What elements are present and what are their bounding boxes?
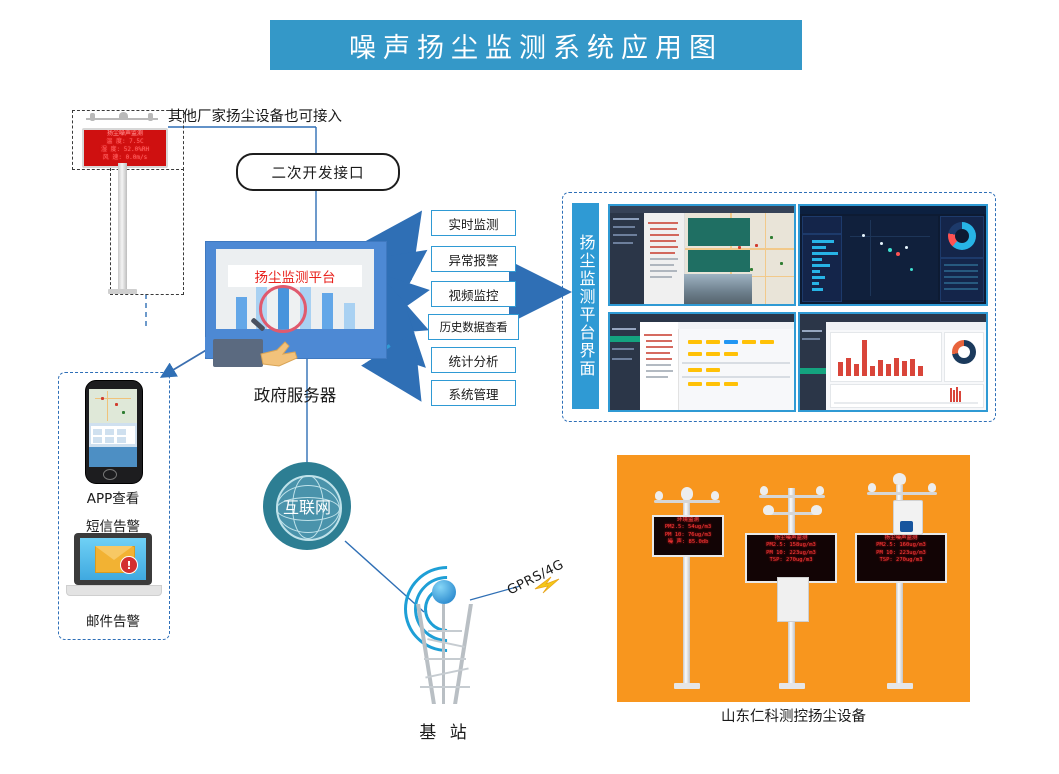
api-interface-label: 二次开发接口 xyxy=(272,162,365,183)
anemometer-icon xyxy=(655,491,663,500)
station-3-led-display: 扬尘噪声监测 PM2.5: 160ug/m3 PM 10: 223ug/m3 T… xyxy=(855,533,947,583)
function-label: 异常报警 xyxy=(448,250,498,269)
equipment-caption: 山东仁科测控扬尘设备 xyxy=(617,705,970,726)
anemometer-icon xyxy=(90,113,95,121)
function-item-realtime[interactable]: 实时监测 xyxy=(431,210,516,236)
led-line-3: TSP: 270ug/m3 xyxy=(857,557,945,565)
led-line-3: 风 速: 0.0m/s xyxy=(84,154,166,162)
third-party-mast-foot xyxy=(108,289,137,294)
function-label: 视频监控 xyxy=(448,285,498,304)
rain-gauge-icon xyxy=(893,473,906,485)
led-line-1: PM2.5: 158ug/m3 xyxy=(747,542,835,550)
function-item-statistics[interactable]: 统计分析 xyxy=(431,347,516,373)
wind-vane-icon xyxy=(928,483,936,492)
third-party-note: 其他厂家扬尘设备也可接入 xyxy=(168,105,342,126)
phone-map-view xyxy=(89,389,137,423)
noise-sensor-icon xyxy=(811,505,822,515)
screenshot-map-monitoring[interactable] xyxy=(608,204,796,306)
platform-title-text: 扬尘监测平台 xyxy=(255,266,336,286)
function-label: 系统管理 xyxy=(448,384,498,403)
led-line-1: PM2.5: 54ug/m3 xyxy=(654,524,722,532)
app-view-label: APP查看 xyxy=(58,487,168,507)
laptop-base xyxy=(66,585,162,596)
page-title: 噪声扬尘监测系统应用图 xyxy=(349,26,723,65)
tower-brace-2 xyxy=(424,658,466,660)
third-party-led-display: 扬尘噪声监测 温 度: 7.5C 湿 度: 52.0%RH 风 速: 0.0m/… xyxy=(82,128,168,168)
led-line-3: TSP: 270ug/m3 xyxy=(747,557,835,565)
screenshot-device-list[interactable] xyxy=(608,312,796,412)
camera-icon xyxy=(763,505,774,515)
station-2-crossarm xyxy=(759,495,825,498)
led-line-1: PM2.5: 160ug/m3 xyxy=(857,542,945,550)
tower-diagonal-2 xyxy=(425,667,468,678)
led-header: 扬尘噪声监测 xyxy=(857,535,945,542)
led-header: 扬尘噪声监测 xyxy=(84,130,166,138)
station-1-led-display: 环境监测 PM2.5: 54ug/m3 PM 10: 76ug/m3 噪 声: … xyxy=(652,515,724,557)
station-1-foot xyxy=(674,683,700,689)
dashboard-label-text: 扬尘监测平台界面 xyxy=(574,234,598,378)
rain-sensor-icon xyxy=(119,112,128,120)
page-title-banner: 噪声扬尘监测系统应用图 xyxy=(270,20,802,70)
wind-vane-icon xyxy=(816,486,824,495)
tower-leg-center xyxy=(442,604,445,704)
function-item-video[interactable]: 视频监控 xyxy=(431,281,516,307)
anemometer-icon xyxy=(868,483,876,492)
led-line-2: 湿 度: 52.0%RH xyxy=(84,146,166,154)
third-party-mast xyxy=(118,163,127,291)
function-label: 统计分析 xyxy=(448,351,498,370)
internet-label: 互联网 xyxy=(263,494,351,518)
led-line-2: PM 10: 76ug/m3 xyxy=(654,532,722,540)
station-2-led-display: 扬尘噪声监测 PM2.5: 158ug/m3 PM 10: 223ug/m3 T… xyxy=(745,533,837,583)
sensor-badge-icon xyxy=(900,521,913,532)
dashboard-vertical-label: 扬尘监测平台界面 xyxy=(572,203,599,409)
station-2-foot xyxy=(779,683,805,689)
magnifier-icon xyxy=(259,285,307,333)
screenshot-gis-overview[interactable] xyxy=(798,204,988,306)
wind-vane-icon xyxy=(148,113,153,121)
tower-brace-1 xyxy=(428,630,462,632)
alert-badge-icon: ! xyxy=(120,556,138,574)
phone-home-button xyxy=(103,469,117,480)
led-line-1: 温 度: 7.5C xyxy=(84,138,166,146)
control-cabinet-icon xyxy=(777,577,809,622)
function-label: 实时监测 xyxy=(448,214,498,233)
anemometer-icon xyxy=(760,486,768,495)
function-item-alarm[interactable]: 异常报警 xyxy=(431,246,516,272)
phone-screen xyxy=(89,389,137,467)
function-label: 历史数据查看 xyxy=(440,319,508,335)
station-1-crossarm xyxy=(654,500,720,503)
platform-screen-title: 扬尘监测平台 xyxy=(228,265,362,287)
station-3-crossarm xyxy=(867,492,937,495)
sms-alert-label: 短信告警 xyxy=(58,515,168,535)
antenna-ball-icon xyxy=(432,580,456,604)
wind-vane-icon xyxy=(711,491,719,500)
function-item-system[interactable]: 系统管理 xyxy=(431,380,516,406)
function-item-history[interactable]: 历史数据查看 xyxy=(428,314,519,340)
led-line-2: PM 10: 223ug/m3 xyxy=(857,550,945,558)
mail-alert-label: 邮件告警 xyxy=(58,610,168,630)
platform-label: 政府服务器 xyxy=(205,382,385,406)
led-line-2: PM 10: 223ug/m3 xyxy=(747,550,835,558)
screenshot-statistics[interactable] xyxy=(798,312,988,412)
led-header: 环境监测 xyxy=(654,517,722,524)
base-station-label: 基 站 xyxy=(385,718,505,743)
led-header: 扬尘噪声监测 xyxy=(747,535,835,542)
rain-gauge-icon xyxy=(681,487,693,500)
hand-cursor-icon xyxy=(255,336,303,368)
tower-brace-3 xyxy=(420,686,470,688)
station-3-foot xyxy=(887,683,913,689)
api-interface-node[interactable]: 二次开发接口 xyxy=(236,153,400,191)
led-line-3: 噪 声: 85.0db xyxy=(654,539,722,547)
